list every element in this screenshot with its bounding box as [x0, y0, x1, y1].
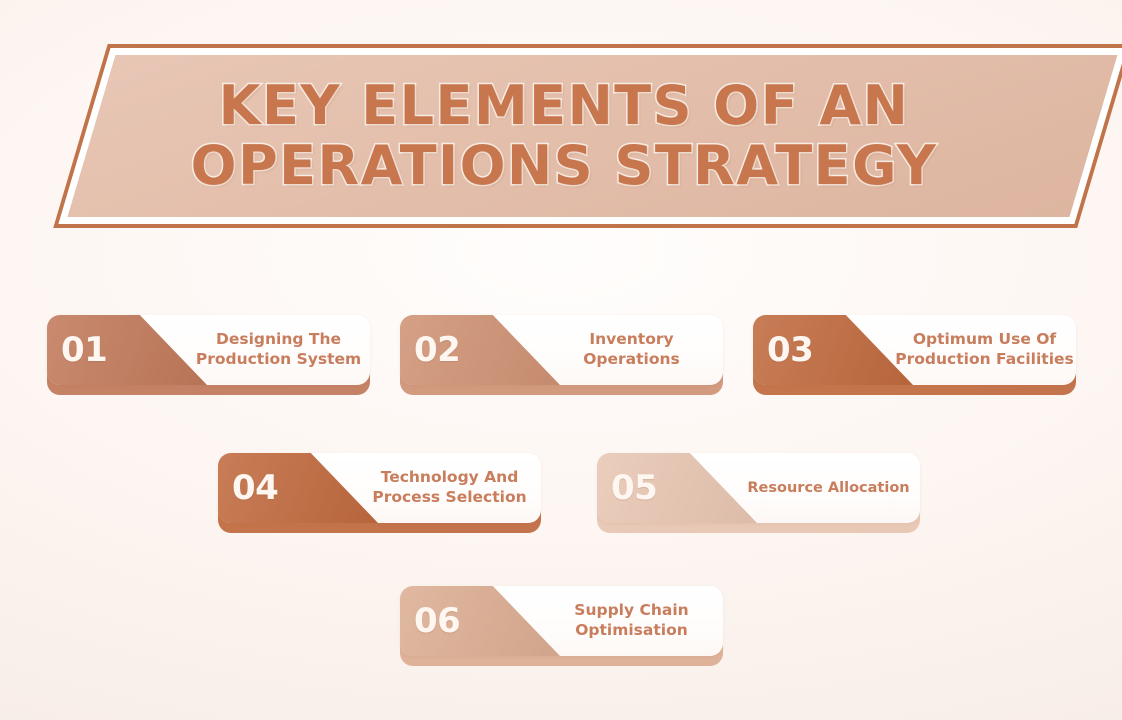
page-title-line-1: KEY ELEMENTS OF AN	[219, 77, 910, 135]
card-label: Supply ChainOptimisation	[550, 586, 713, 656]
title-banner: KEY ELEMENTS OF AN OPERATIONS STRATEGY	[44, 40, 1084, 232]
element-card-05[interactable]: 05Resource Allocation	[597, 453, 920, 523]
card-label-line-2: Optimisation	[575, 621, 688, 641]
card-body: 05Resource Allocation	[597, 453, 920, 523]
card-body: 02InventoryOperations	[400, 315, 723, 385]
card-label: Resource Allocation	[747, 453, 910, 523]
element-card-04[interactable]: 04Technology AndProcess Selection	[218, 453, 541, 523]
card-number: 01	[61, 315, 107, 385]
card-label: Technology AndProcess Selection	[368, 453, 531, 523]
card-body: 04Technology AndProcess Selection	[218, 453, 541, 523]
element-card-02[interactable]: 02InventoryOperations	[400, 315, 723, 385]
card-number: 04	[232, 453, 278, 523]
page-title-line-2: OPERATIONS STRATEGY	[191, 137, 938, 195]
card-label-line-2: Process Selection	[372, 488, 526, 508]
card-number: 03	[767, 315, 813, 385]
element-card-06[interactable]: 06Supply ChainOptimisation	[400, 586, 723, 656]
card-label-line-1: Optimum Use Of	[913, 330, 1056, 350]
card-label-line-1: Designing The	[216, 330, 341, 350]
card-number: 06	[414, 586, 460, 656]
card-number: 05	[611, 453, 657, 523]
card-label-line-2: Production Facilities	[895, 350, 1074, 370]
card-body: 03Optimum Use OfProduction Facilities	[753, 315, 1076, 385]
card-number: 02	[414, 315, 460, 385]
card-label-line-2: Production System	[196, 350, 361, 370]
card-label-line-1: Resource Allocation	[747, 479, 909, 498]
card-label: Optimum Use OfProduction Facilities	[903, 315, 1066, 385]
element-card-03[interactable]: 03Optimum Use OfProduction Facilities	[753, 315, 1076, 385]
page-title: KEY ELEMENTS OF AN OPERATIONS STRATEGY	[44, 40, 1084, 232]
infographic-canvas: KEY ELEMENTS OF AN OPERATIONS STRATEGY 0…	[0, 0, 1122, 720]
card-label-line-1: Technology And	[381, 468, 519, 488]
card-body: 01Designing TheProduction System	[47, 315, 370, 385]
card-label: InventoryOperations	[550, 315, 713, 385]
card-label-line-1: Supply Chain	[574, 601, 688, 621]
card-body: 06Supply ChainOptimisation	[400, 586, 723, 656]
card-label: Designing TheProduction System	[197, 315, 360, 385]
card-label-line-2: Operations	[583, 350, 680, 370]
card-label-line-1: Inventory	[589, 330, 673, 350]
element-card-01[interactable]: 01Designing TheProduction System	[47, 315, 370, 385]
